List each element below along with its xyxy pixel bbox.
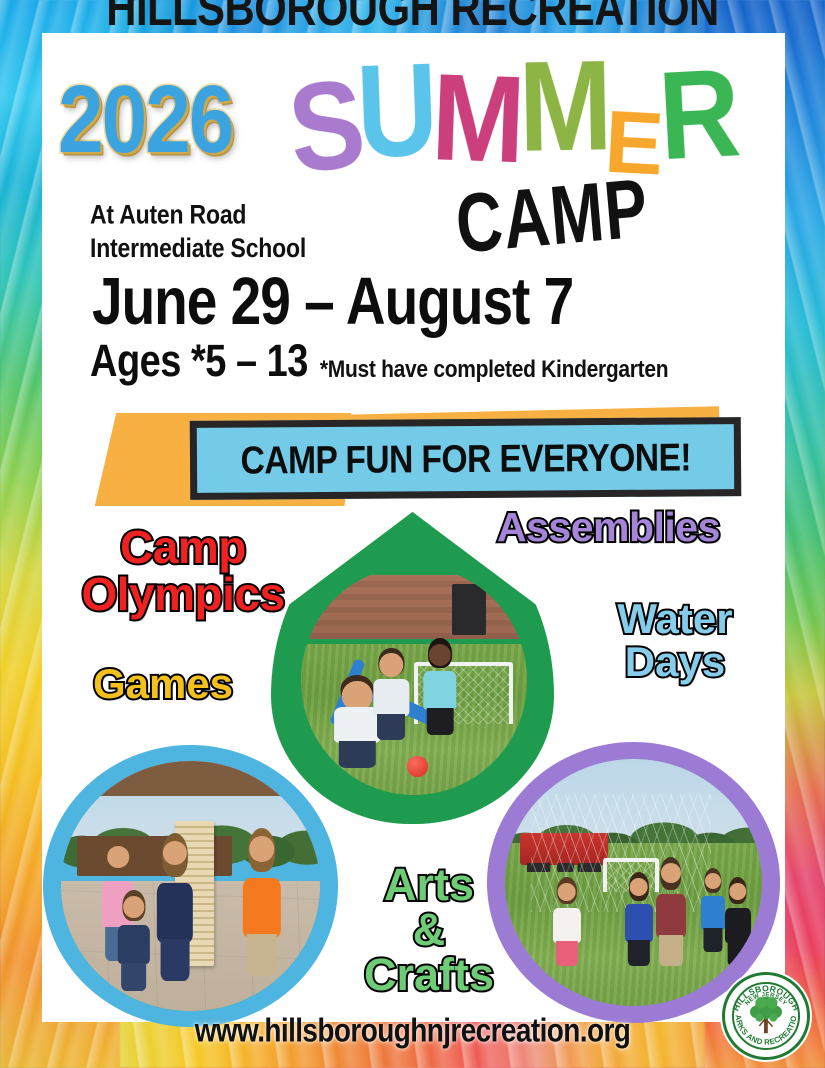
water-days-line-1: Water <box>596 598 754 641</box>
activity-label-camp-olympics: Camp Olympics <box>68 524 298 618</box>
arts-line-1: Arts <box>340 862 518 907</box>
camp-olympics-line-2: Olympics <box>68 571 298 618</box>
camp-wordmark: CAMP <box>452 159 652 271</box>
activity-label-games: Games <box>68 663 258 706</box>
seal-artwork: HILLSBOROUGH NEW JERSEY PARKS AND RECREA… <box>725 975 807 1057</box>
website-url[interactable]: www.hillsboroughnjrecreation.org <box>0 1012 825 1050</box>
location-line-1: At Auten Road <box>90 198 306 231</box>
camp-olympics-line-1: Camp <box>68 524 298 571</box>
camp-location: At Auten Road Intermediate School <box>90 198 306 264</box>
activity-label-arts-crafts: Arts & Crafts <box>340 862 518 997</box>
camp-year: 2026 <box>58 66 232 175</box>
location-line-2: Intermediate School <box>90 231 306 264</box>
camp-ages-row: Ages *5 – 13 *Must have completed Kinder… <box>90 345 668 388</box>
activity-label-assemblies: Assemblies <box>497 507 720 549</box>
banner-box: CAMP FUN FOR EVERYONE! <box>190 417 742 500</box>
organization-title: HILLSBOROUGH RECREATION <box>0 0 825 37</box>
hillsborough-parks-recreation-seal: HILLSBOROUGH NEW JERSEY PARKS AND RECREA… <box>722 972 810 1060</box>
arts-line-3: Crafts <box>340 952 518 997</box>
camp-ages: Ages *5 – 13 <box>90 336 308 388</box>
camp-flyer-poster: HILLSBOROUGH RECREATION 2026 SUMMER CAMP… <box>0 0 825 1068</box>
banner-text: CAMP FUN FOR EVERYONE! <box>240 435 691 483</box>
water-days-line-2: Days <box>596 641 754 684</box>
camp-dates: June 29 – August 7 <box>92 262 573 340</box>
tree-icon <box>750 997 782 1033</box>
activity-label-water-days: Water Days <box>596 598 754 684</box>
arts-line-2: & <box>340 907 518 952</box>
camp-ages-note: *Must have completed Kindergarten <box>320 356 668 384</box>
